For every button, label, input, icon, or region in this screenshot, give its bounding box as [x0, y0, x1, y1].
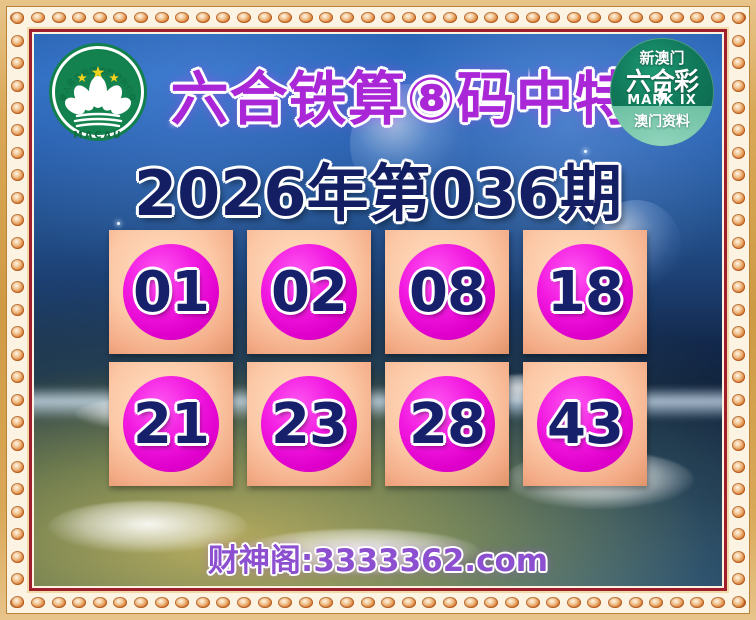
bead-row-top	[7, 7, 749, 28]
ball-number: 23	[271, 392, 347, 457]
number-row-1: 01 02 08 18	[34, 230, 722, 354]
ball-number: 43	[547, 392, 623, 457]
ball-number: 02	[271, 260, 347, 325]
poster-header: 中華人民共和國澳門特別行政區	[34, 34, 722, 152]
svg-text:MACAU: MACAU	[73, 130, 123, 141]
number-ball[interactable]: 23	[247, 362, 371, 486]
number-ball[interactable]: 01	[109, 230, 233, 354]
ball-number: 28	[409, 392, 485, 457]
number-ball[interactable]: 18	[523, 230, 647, 354]
number-ball[interactable]: 43	[523, 362, 647, 486]
draw-period: 2026年第036期	[34, 150, 722, 226]
site-watermark: 财神阁:3333362.com	[34, 536, 722, 578]
poster-canvas: 中華人民共和國澳門特別行政區	[34, 34, 722, 586]
number-balls: 01 02 08 18	[34, 230, 722, 486]
badge-top-label: 新澳门	[639, 47, 684, 68]
bead-column-right	[728, 7, 749, 613]
badge-band-label: 澳门资料	[634, 111, 690, 131]
number-ball[interactable]: 28	[385, 362, 509, 486]
ball-number: 01	[133, 260, 209, 325]
ball-number: 21	[133, 392, 209, 457]
bead-column-left	[7, 7, 28, 613]
number-row-2: 21 23 28 43	[34, 362, 722, 486]
bead-row-bottom	[7, 592, 749, 613]
ball-number: 08	[409, 260, 485, 325]
badge-bottom-band: 澳门资料	[610, 106, 714, 146]
page-title: 六合铁算⑧码中特	[162, 52, 642, 136]
number-ball[interactable]: 21	[109, 362, 233, 486]
number-ball[interactable]: 02	[247, 230, 371, 354]
lottery-poster: 中華人民共和國澳門特別行政區	[0, 0, 756, 620]
number-ball[interactable]: 08	[385, 230, 509, 354]
macau-emblem: 中華人民共和國澳門特別行政區	[46, 40, 150, 144]
ball-number: 18	[547, 260, 623, 325]
mark-six-badge: 新澳门 六合彩 MARK IX 澳门资料	[610, 38, 714, 146]
